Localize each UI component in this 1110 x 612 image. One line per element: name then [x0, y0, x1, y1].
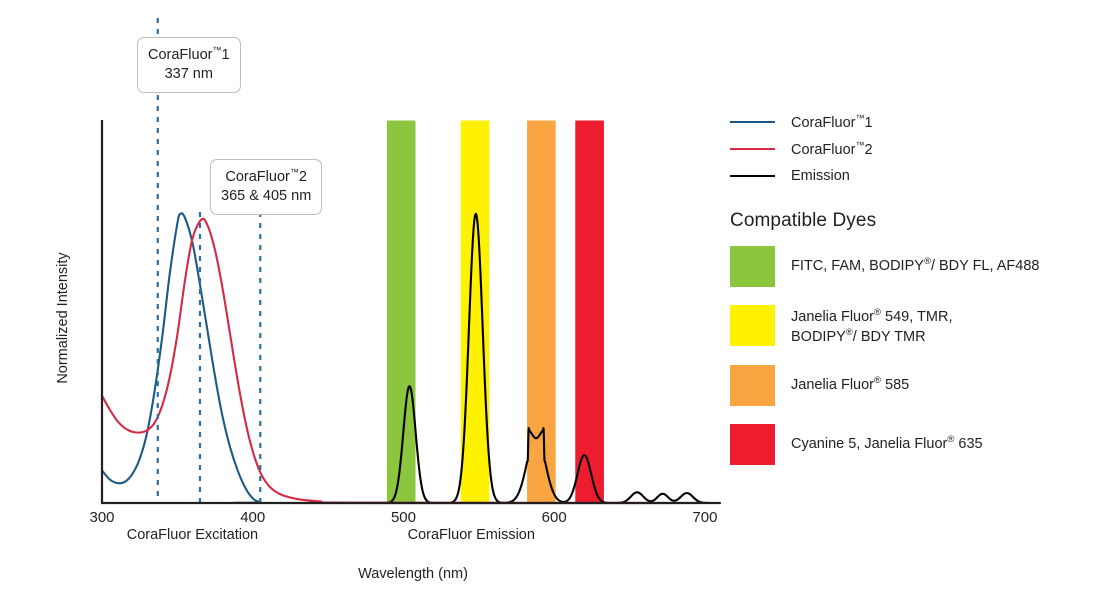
x-tick-600: 600	[542, 509, 567, 526]
x-axis-label: Wavelength (nm)	[358, 566, 468, 582]
x-tick-700: 700	[692, 509, 717, 526]
compatible-dyes-heading: Compatible Dyes	[730, 210, 1090, 232]
dye-color-swatch-2	[730, 365, 775, 406]
filter-band-3	[575, 121, 604, 504]
dye-label-line-0-0: FITC, FAM, BODIPY®/ BDY FL, AF488	[791, 256, 1039, 276]
legend-panel: CoraFluor™1CoraFluor™2Emission Compatibl…	[730, 108, 1090, 483]
legend-line-swatch-0	[730, 121, 775, 123]
callout-corafluor2-line2: 365 & 405 nm	[221, 187, 311, 207]
legend-series-row-0: CoraFluor™1	[730, 108, 1090, 135]
legend-series-row-1: CoraFluor™2	[730, 135, 1090, 162]
dye-label-2: Janelia Fluor® 585	[791, 365, 909, 395]
series-legend: CoraFluor™1CoraFluor™2Emission	[730, 108, 1090, 189]
legend-line-swatch-2	[730, 175, 775, 177]
compatible-dyes-list: FITC, FAM, BODIPY®/ BDY FL, AF488Janelia…	[730, 246, 1090, 465]
dye-label-1: Janelia Fluor® 549, TMR,BODIPY®/ BDY TMR	[791, 305, 952, 347]
callout-corafluor2: CoraFluor™2 365 & 405 nm	[210, 159, 322, 215]
callout-corafluor1-line2: 337 nm	[148, 65, 230, 85]
dye-color-swatch-1	[730, 305, 775, 346]
dye-color-swatch-3	[730, 424, 775, 465]
region-label-emission: CoraFluor Emission	[408, 527, 535, 543]
dye-row-2: Janelia Fluor® 585	[730, 365, 1090, 406]
legend-series-row-2: Emission	[730, 162, 1090, 189]
dye-label-line-1-0: Janelia Fluor® 549, TMR,	[791, 307, 952, 327]
dye-color-swatch-0	[730, 246, 775, 287]
x-tick-400: 400	[240, 509, 265, 526]
legend-series-label-1: CoraFluor™2	[791, 140, 873, 158]
dye-row-0: FITC, FAM, BODIPY®/ BDY FL, AF488	[730, 246, 1090, 287]
dye-row-3: Cyanine 5, Janelia Fluor® 635	[730, 424, 1090, 465]
legend-series-label-0: CoraFluor™1	[791, 113, 873, 131]
callout-corafluor2-line1: CoraFluor™2	[221, 166, 311, 187]
dye-label-line-3-0: Cyanine 5, Janelia Fluor® 635	[791, 434, 983, 454]
dye-label-3: Cyanine 5, Janelia Fluor® 635	[791, 424, 983, 454]
y-axis-label: Normalized Intensity	[55, 252, 71, 383]
filter-band-2	[527, 121, 556, 504]
dye-row-1: Janelia Fluor® 549, TMR,BODIPY®/ BDY TMR	[730, 305, 1090, 347]
x-tick-500: 500	[391, 509, 416, 526]
dye-label-line-2-0: Janelia Fluor® 585	[791, 375, 909, 395]
x-tick-300: 300	[89, 509, 114, 526]
fluorescence-spectra-figure: CoraFluor™1 337 nm CoraFluor™2 365 & 405…	[0, 0, 1110, 612]
region-label-excitation: CoraFluor Excitation	[127, 527, 258, 543]
filter-band-1	[461, 121, 490, 504]
legend-line-swatch-1	[730, 148, 775, 150]
callout-corafluor1-line1: CoraFluor™1	[148, 44, 230, 65]
dye-label-line-1-1: BODIPY®/ BDY TMR	[791, 327, 952, 347]
legend-series-label-2: Emission	[791, 168, 850, 184]
callout-corafluor1: CoraFluor™1 337 nm	[137, 37, 241, 93]
dye-label-0: FITC, FAM, BODIPY®/ BDY FL, AF488	[791, 246, 1039, 276]
